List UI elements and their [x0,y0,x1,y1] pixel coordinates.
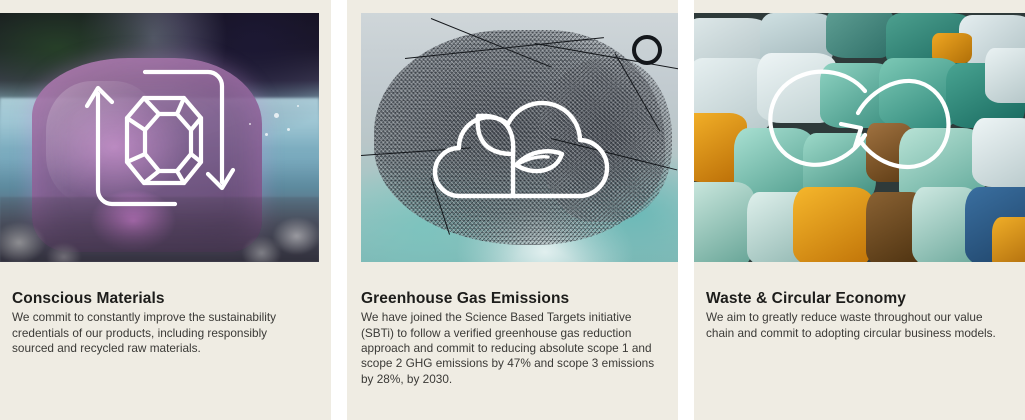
card-media-conscious-materials [0,13,319,262]
card-description: We commit to constantly improve the sust… [12,310,312,356]
card-title: Greenhouse Gas Emissions [361,289,660,308]
column-divider-1 [331,0,347,420]
card-greenhouse-gas-emissions[interactable]: Greenhouse Gas Emissions We have joined … [347,0,678,420]
card-text-conscious-materials: Conscious Materials We commit to constan… [0,262,331,356]
card-description: We aim to greatly reduce waste throughou… [706,310,1009,341]
column-divider-2 [678,0,694,420]
card-text-greenhouse-gas-emissions: Greenhouse Gas Emissions We have joined … [347,262,678,387]
card-media-waste-circular-economy [694,13,1025,262]
card-title: Conscious Materials [12,289,319,308]
card-conscious-materials[interactable]: Conscious Materials We commit to constan… [0,0,331,420]
infinity-arrow-icon [694,13,1025,262]
card-description: We have joined the Science Based Targets… [361,310,660,386]
sustainability-pillars-board: Conscious Materials We commit to constan… [0,0,1025,420]
gem-recycle-icon [0,13,319,262]
card-waste-circular-economy[interactable]: Waste & Circular Economy We aim to great… [694,0,1025,420]
cloud-sprout-icon [361,13,678,262]
card-text-waste-circular-economy: Waste & Circular Economy We aim to great… [694,262,1025,341]
card-title: Waste & Circular Economy [706,289,1009,308]
card-media-greenhouse-gas-emissions [361,13,678,262]
